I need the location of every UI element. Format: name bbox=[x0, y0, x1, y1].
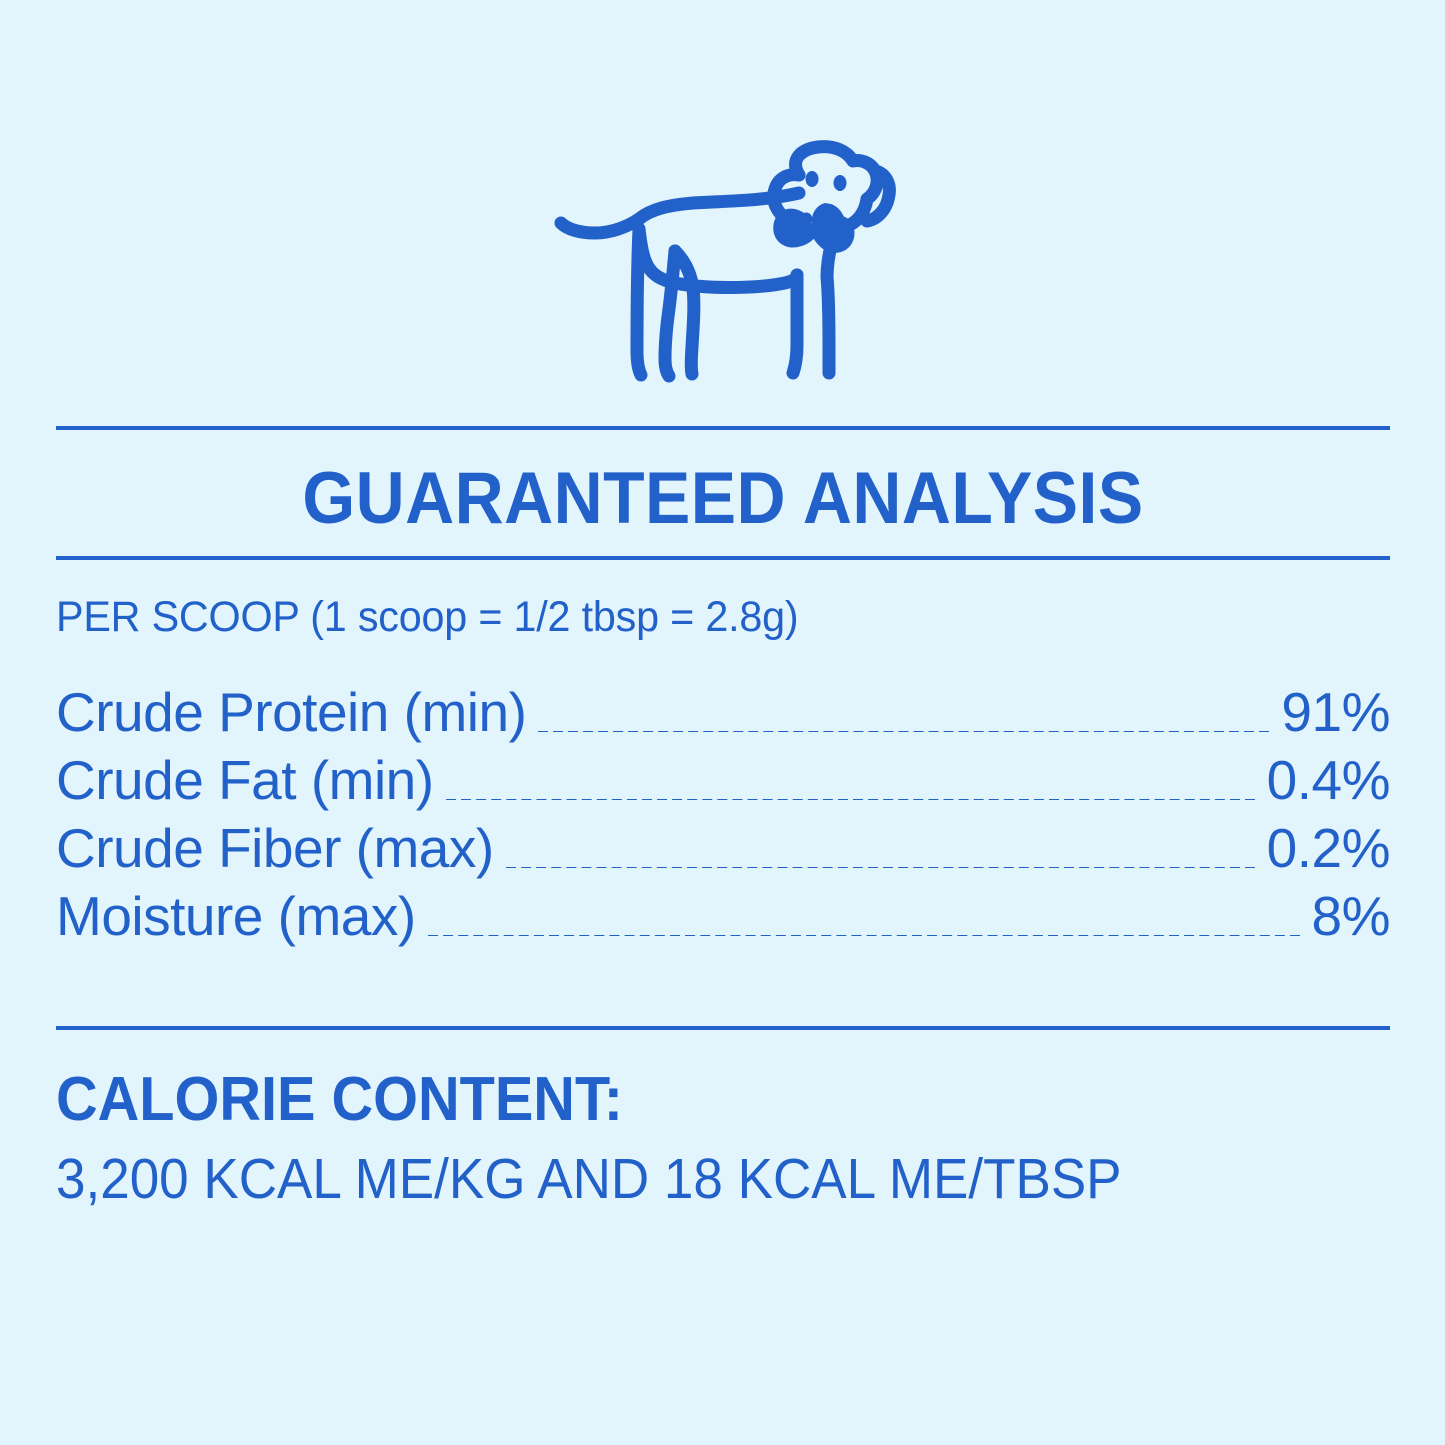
nutrient-value: 0.4% bbox=[1267, 746, 1390, 814]
nutrient-value: 8% bbox=[1312, 882, 1391, 950]
divider-below-title bbox=[56, 556, 1390, 560]
guaranteed-analysis-table: Crude Protein (min) 91% Crude Fat (min) … bbox=[56, 678, 1390, 950]
divider-above-calories bbox=[56, 1026, 1390, 1030]
brand-logo bbox=[0, 128, 1445, 400]
nutrient-value: 0.2% bbox=[1267, 814, 1390, 882]
calorie-content-block: CALORIE CONTENT: 3,200 KCAL ME/KG AND 18… bbox=[56, 1062, 1202, 1214]
calorie-content-heading: CALORIE CONTENT: bbox=[56, 1062, 1122, 1138]
table-row: Crude Fiber (max) 0.2% bbox=[56, 814, 1390, 882]
nutrient-value: 91% bbox=[1281, 678, 1390, 746]
leader-dots bbox=[428, 935, 1300, 936]
nutrient-label: Crude Protein (min) bbox=[56, 678, 526, 746]
table-row: Crude Fat (min) 0.4% bbox=[56, 746, 1390, 814]
leader-dots bbox=[538, 731, 1269, 732]
guaranteed-analysis-panel: GUARANTEED ANALYSIS PER SCOOP (1 scoop =… bbox=[0, 0, 1445, 1445]
serving-size-label: PER SCOOP (1 scoop = 1/2 tbsp = 2.8g) bbox=[56, 592, 798, 642]
table-row: Moisture (max) 8% bbox=[56, 882, 1390, 950]
calorie-content-detail: 3,200 KCAL ME/KG AND 18 KCAL ME/TBSP bbox=[56, 1144, 1122, 1214]
table-row: Crude Protein (min) 91% bbox=[56, 678, 1390, 746]
leader-dots bbox=[446, 799, 1255, 800]
page-title: GUARANTEED ANALYSIS bbox=[103, 452, 1344, 546]
nutrient-label: Crude Fiber (max) bbox=[56, 814, 494, 882]
dog-with-bowtie-icon bbox=[535, 133, 911, 395]
nutrient-label: Moisture (max) bbox=[56, 882, 416, 950]
leader-dots bbox=[506, 867, 1255, 868]
divider-above-title bbox=[56, 426, 1390, 430]
nutrient-label: Crude Fat (min) bbox=[56, 746, 434, 814]
